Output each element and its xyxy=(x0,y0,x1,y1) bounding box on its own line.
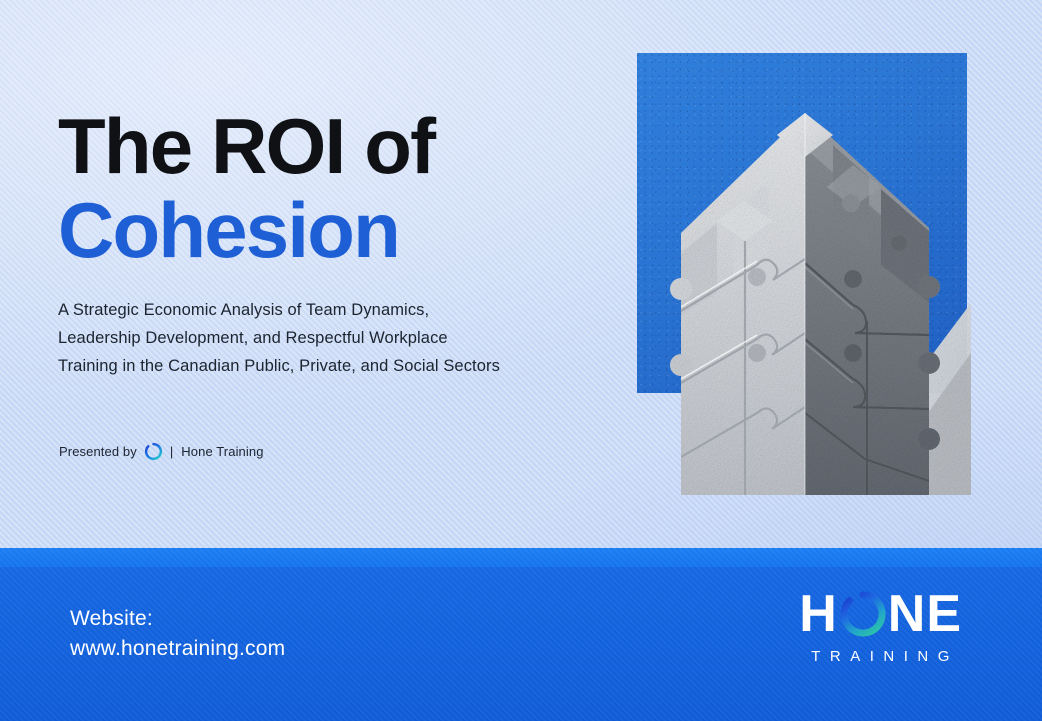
subtitle: A Strategic Economic Analysis of Team Dy… xyxy=(58,296,558,380)
website-block: Website: www.honetraining.com xyxy=(70,604,285,664)
website-url[interactable]: www.honetraining.com xyxy=(70,634,285,664)
logo-letter-n: N xyxy=(888,588,927,640)
hone-ring-icon xyxy=(144,442,163,461)
subtitle-line-2: Leadership Development, and Respectful W… xyxy=(58,324,558,352)
presentation-slide: The ROI of Cohesion A Strategic Economic… xyxy=(0,0,1042,721)
website-label: Website: xyxy=(70,604,285,634)
hone-training-logo: H N E xyxy=(799,588,962,667)
subtitle-line-3: Training in the Canadian Public, Private… xyxy=(58,352,558,380)
subtitle-line-1: A Strategic Economic Analysis of Team Dy… xyxy=(58,296,558,324)
logo-subtitle: TRAINING xyxy=(802,647,959,667)
puzzle-tower-illustration xyxy=(637,53,971,495)
presented-by-brand: Hone Training xyxy=(181,444,263,459)
hone-wordmark: H N E xyxy=(799,588,962,640)
presented-by: Presented by | Hone Training xyxy=(59,442,264,461)
footer-accent-strip xyxy=(0,548,1042,567)
logo-letter-e: E xyxy=(926,588,962,640)
page-title-line-2: Cohesion xyxy=(58,188,618,272)
logo-letter-h: H xyxy=(799,588,838,640)
hone-logo-ring-icon xyxy=(838,590,888,638)
presented-by-label: Presented by xyxy=(59,444,137,459)
footer-bar: Website: www.honetraining.com H xyxy=(0,548,1042,721)
page-title-line-1: The ROI of xyxy=(58,104,618,188)
presented-by-divider: | xyxy=(170,444,173,459)
title-block: The ROI of Cohesion xyxy=(58,104,618,272)
hero-image xyxy=(637,53,971,495)
